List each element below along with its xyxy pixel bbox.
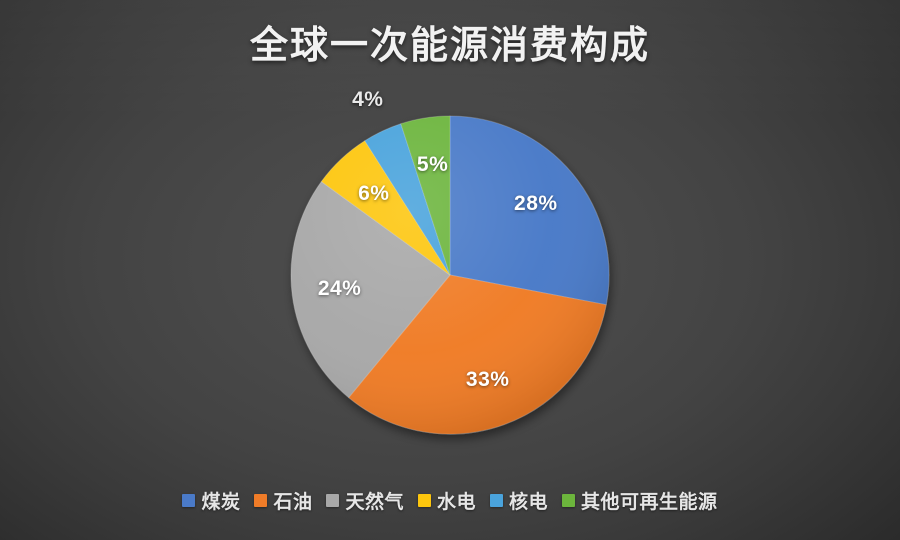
- pie-slice-label: 4%: [352, 88, 383, 112]
- legend-item[interactable]: 其他可再生能源: [562, 487, 718, 514]
- page-title: 全球一次能源消费构成: [0, 14, 900, 69]
- legend-item-label: 其他可再生能源: [581, 487, 718, 514]
- legend-swatch-icon: [182, 494, 195, 507]
- chart-canvas: 全球一次能源消费构成 28%33%24%6%4%5% 煤炭石油天然气水电核电其他…: [0, 0, 900, 540]
- legend-swatch-icon: [562, 494, 575, 507]
- legend-swatch-icon: [254, 494, 267, 507]
- pie-chart: 28%33%24%6%4%5%: [290, 115, 610, 435]
- legend-swatch-icon: [490, 494, 503, 507]
- pie-gloss-overlay: [291, 116, 609, 434]
- legend-item[interactable]: 水电: [418, 487, 476, 514]
- legend-item-label: 天然气: [345, 487, 404, 514]
- legend-swatch-icon: [418, 494, 431, 507]
- legend-item-label: 石油: [273, 487, 312, 514]
- legend-item[interactable]: 天然气: [326, 487, 404, 514]
- legend-item[interactable]: 核电: [490, 487, 548, 514]
- chart-legend: 煤炭石油天然气水电核电其他可再生能源: [0, 487, 900, 514]
- legend-swatch-icon: [326, 494, 339, 507]
- legend-item-label: 煤炭: [201, 487, 240, 514]
- legend-item[interactable]: 石油: [254, 487, 312, 514]
- legend-item-label: 核电: [509, 487, 548, 514]
- legend-item-label: 水电: [437, 487, 476, 514]
- pie-chart-svg: [290, 115, 610, 435]
- legend-item[interactable]: 煤炭: [182, 487, 240, 514]
